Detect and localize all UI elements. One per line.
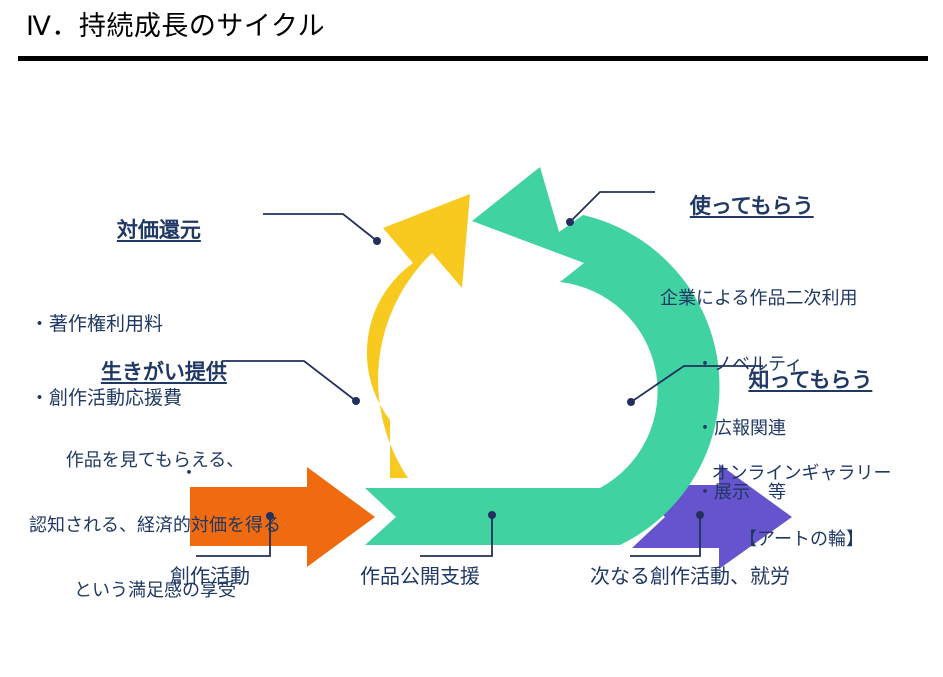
callout-ikigai: 生きがい提供 作品を見てもらえる、 認知される、経済的対価を得る という満足感の… (0, 342, 310, 677)
callout-ikigai-heading: 生きがい提供 (101, 361, 227, 384)
callout-taika-heading: 対価還元 (117, 218, 201, 244)
yellow-arc (324, 194, 470, 478)
callout-tsukatte-lead: 企業による作品二次利用 (660, 282, 943, 314)
caption-sousaku-katsudo: 創作活動 (130, 564, 290, 590)
slide-canvas: Ⅳ．持続成長のサイクル (0, 0, 943, 620)
callout-ikigai-line-1: 作品を見てもらえる、 (0, 446, 310, 475)
caption-sakuhin-kokai-shien: 作品公開支援 (325, 564, 515, 590)
callout-taika-line-1: ・著作権利用料 (30, 306, 300, 344)
callout-shitte-line-1: オンラインギャラリー (660, 458, 943, 488)
callout-shitte-line-2: 【アートの輪】 (660, 524, 943, 554)
callout-ikigai-line-2: 認知される、経済的対価を得る (0, 511, 310, 540)
callout-tsukatte-heading: 使ってもらう (690, 195, 814, 218)
caption-tsuginaru-sousaku-shuro: 次なる創作活動、就労 (540, 564, 840, 590)
callout-shitte-heading: 知ってもらう (748, 369, 872, 392)
